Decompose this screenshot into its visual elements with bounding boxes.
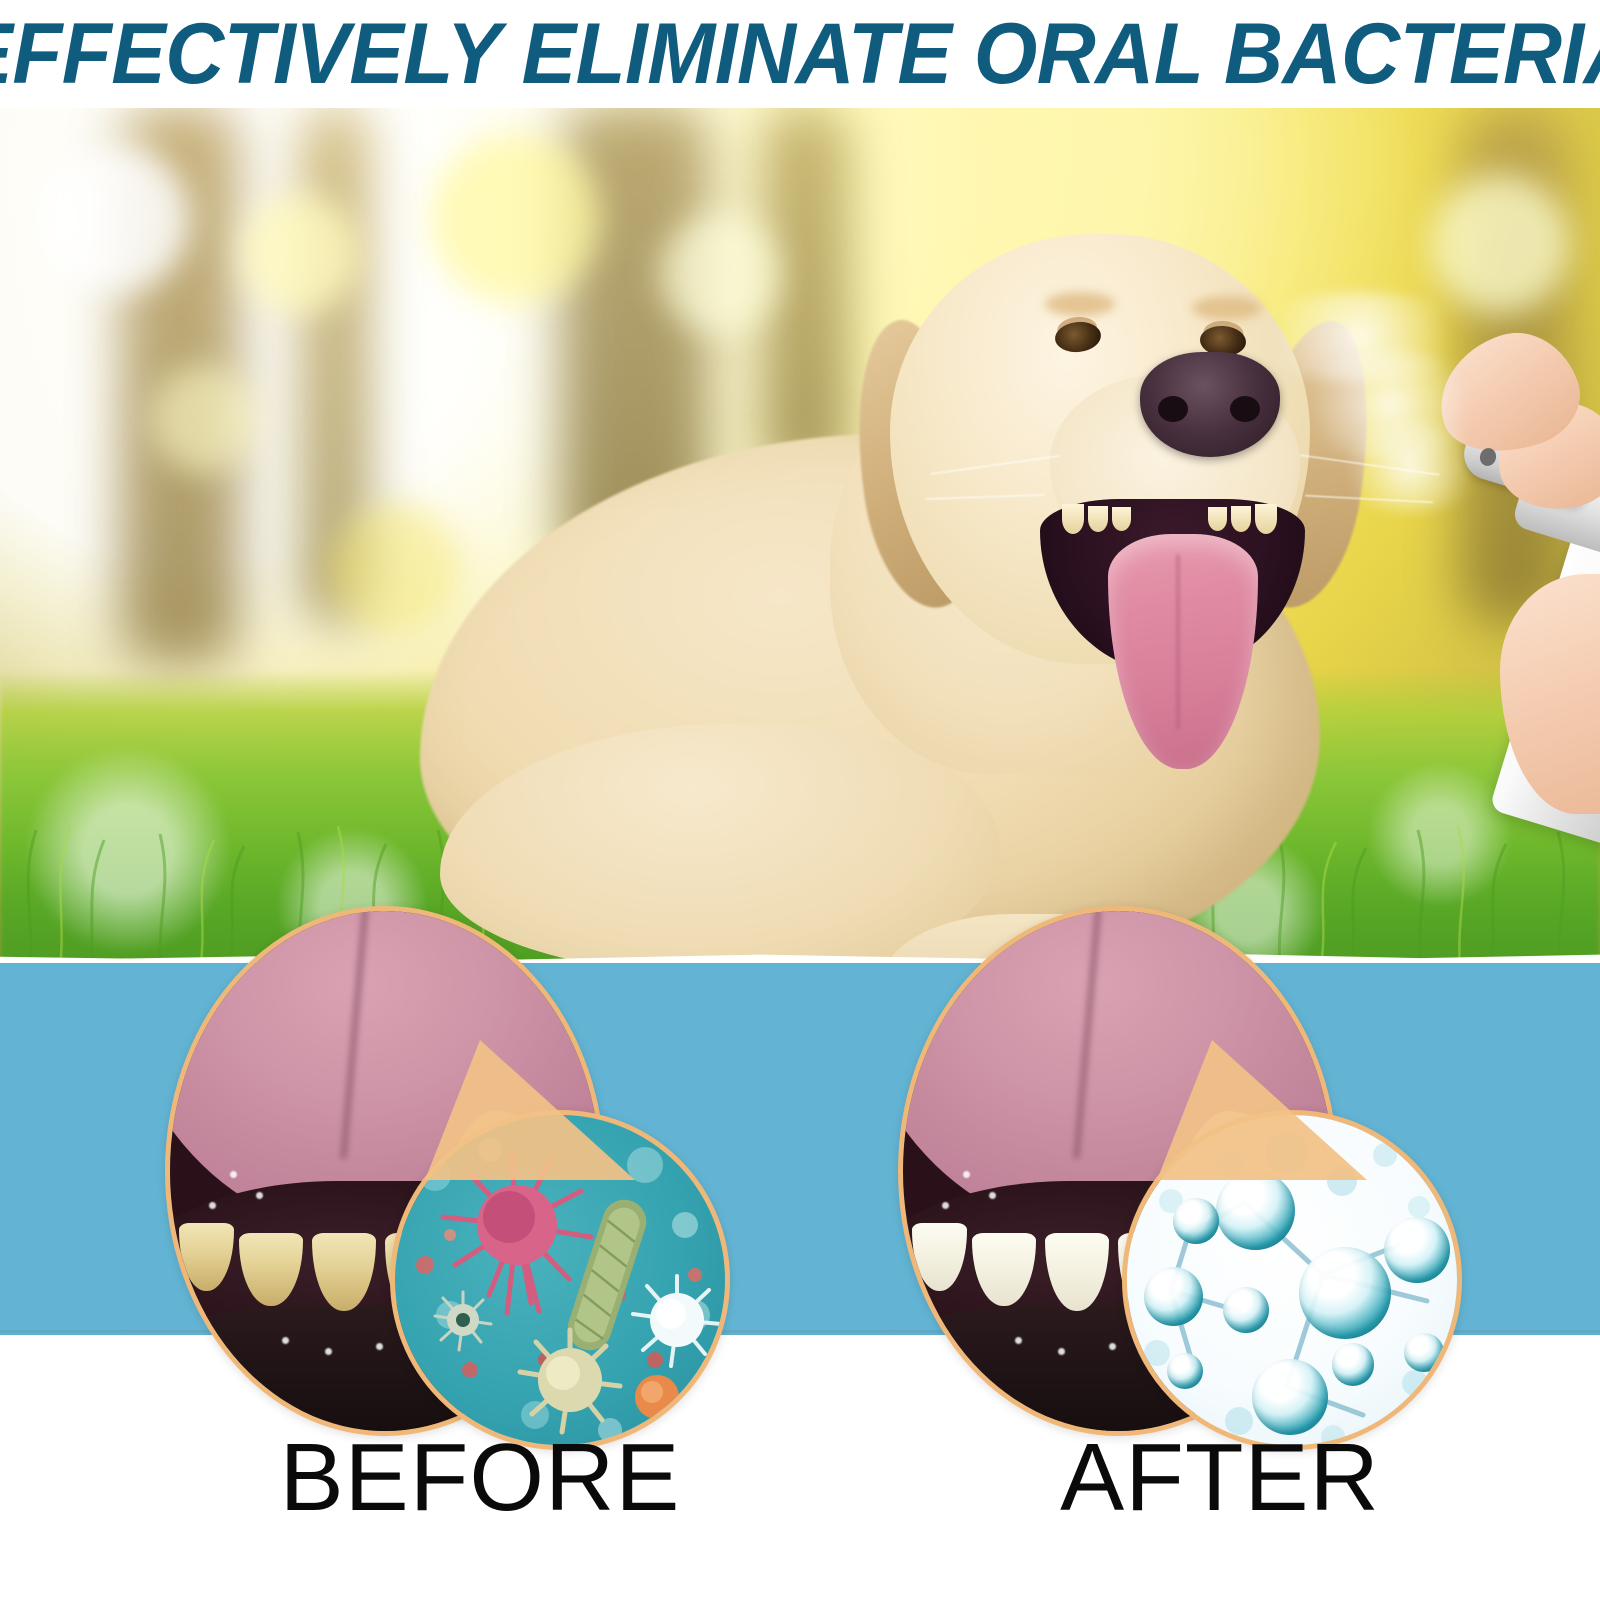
molecule-node xyxy=(1332,1343,1375,1386)
molecule-node xyxy=(1144,1267,1203,1326)
bokeh-light xyxy=(150,364,260,474)
plaque-sparkle xyxy=(256,1192,263,1199)
molecule-node xyxy=(1223,1287,1269,1333)
molecule-node xyxy=(1167,1353,1203,1389)
bokeh-light xyxy=(430,134,600,304)
advertisement-canvas: EFFECTIVELY ELIMINATE ORAL BACTERIA xyxy=(0,0,1600,1600)
dog-tongue-crease xyxy=(1176,554,1180,729)
label-after: AFTER xyxy=(870,1430,1570,1526)
shine-sparkle xyxy=(942,1202,949,1209)
molecule-node xyxy=(1299,1247,1391,1339)
spray-mist xyxy=(1330,422,1490,512)
dog-brow-left xyxy=(1045,292,1115,316)
label-before: BEFORE xyxy=(130,1430,830,1526)
dog-upper-teeth xyxy=(1062,504,1277,538)
bokeh-light xyxy=(1430,174,1570,314)
bokeh-light xyxy=(330,504,460,634)
plaque-sparkle xyxy=(325,1348,332,1355)
connector-wedge-before xyxy=(420,1030,650,1220)
shine-sparkle xyxy=(1058,1348,1065,1355)
headline-text: EFFECTIVELY ELIMINATE ORAL BACTERIA xyxy=(0,11,1600,97)
shine-sparkle xyxy=(989,1192,996,1199)
plaque-sparkle xyxy=(209,1202,216,1209)
shine-sparkle xyxy=(1109,1343,1116,1350)
comparison-labels: BEFORE AFTER xyxy=(0,1430,1600,1600)
molecule-node xyxy=(1404,1333,1444,1373)
connector-wedge-after xyxy=(1152,1030,1382,1220)
hero-photo xyxy=(0,104,1600,970)
bokeh-light xyxy=(240,194,360,314)
bokeh-light xyxy=(40,144,190,294)
headline-banner: EFFECTIVELY ELIMINATE ORAL BACTERIA xyxy=(0,0,1600,108)
plaque-sparkle xyxy=(376,1343,383,1350)
bokeh-light xyxy=(660,214,780,334)
